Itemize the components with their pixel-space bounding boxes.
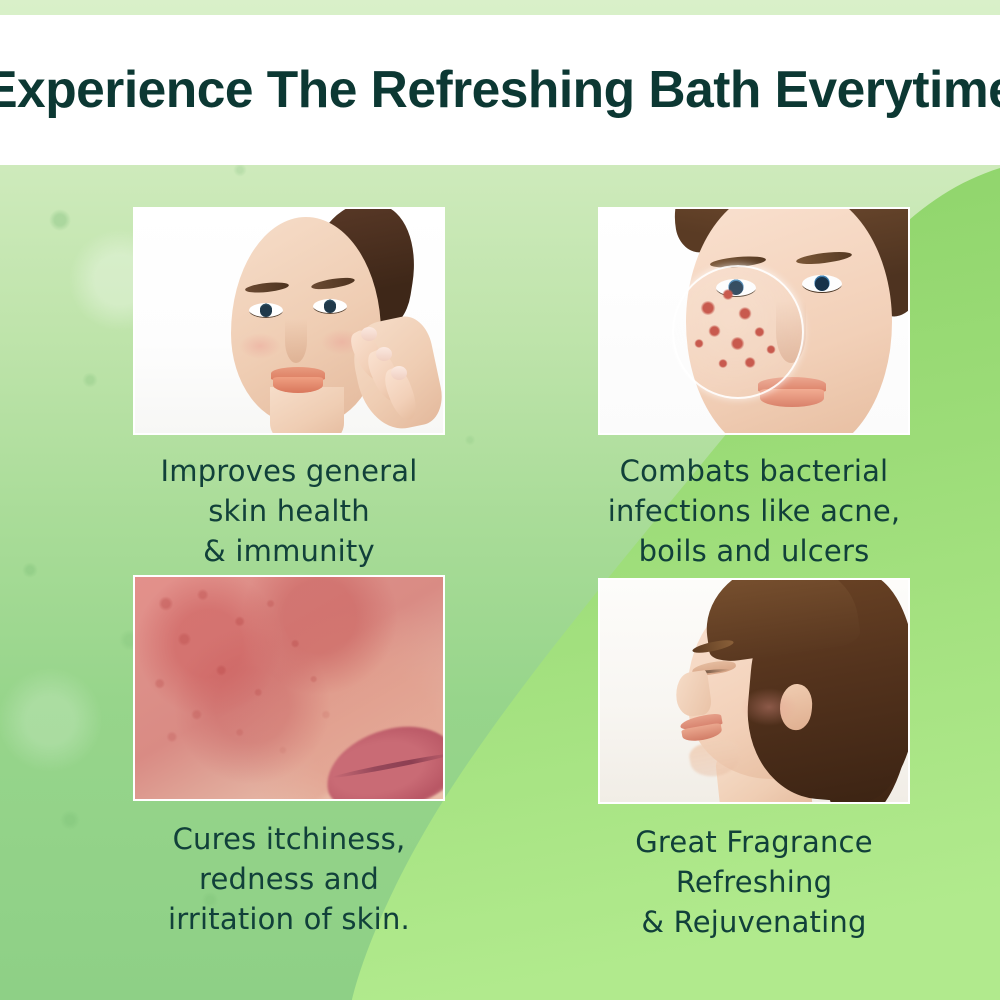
photo-clear-skin-woman <box>135 209 443 433</box>
benefit-photo-frame <box>598 207 910 435</box>
benefit-photo-frame <box>133 207 445 435</box>
product-benefits-poster: Experience The Refreshing Bath Everytime <box>0 0 1000 1000</box>
benefit-photo-frame <box>598 578 910 804</box>
header-band: Experience The Refreshing Bath Everytime <box>0 15 1000 165</box>
benefit-card-great-fragrance: Great Fragrance Refreshing & Rejuvenatin… <box>580 578 928 942</box>
photo-irritated-red-skin <box>135 577 443 799</box>
benefit-caption: Great Fragrance Refreshing & Rejuvenatin… <box>635 822 873 942</box>
benefit-card-improves-general-skin-health: Improves general skin health & immunity <box>115 207 463 571</box>
benefit-caption: Combats bacterial infections like acne, … <box>608 451 901 571</box>
benefit-caption: Improves general skin health & immunity <box>161 451 418 571</box>
photo-acne-magnified <box>600 209 908 433</box>
benefit-caption: Cures itchiness, redness and irritation … <box>168 819 410 939</box>
photo-woman-profile-fragrance <box>600 580 908 802</box>
benefit-card-combats-bacterial-infections: Combats bacterial infections like acne, … <box>580 207 928 571</box>
magnifier-lens-icon <box>672 265 804 399</box>
page-title: Experience The Refreshing Bath Everytime <box>0 60 1000 120</box>
benefit-photo-frame <box>133 575 445 801</box>
benefit-card-cures-itchiness-redness: Cures itchiness, redness and irritation … <box>115 575 463 939</box>
